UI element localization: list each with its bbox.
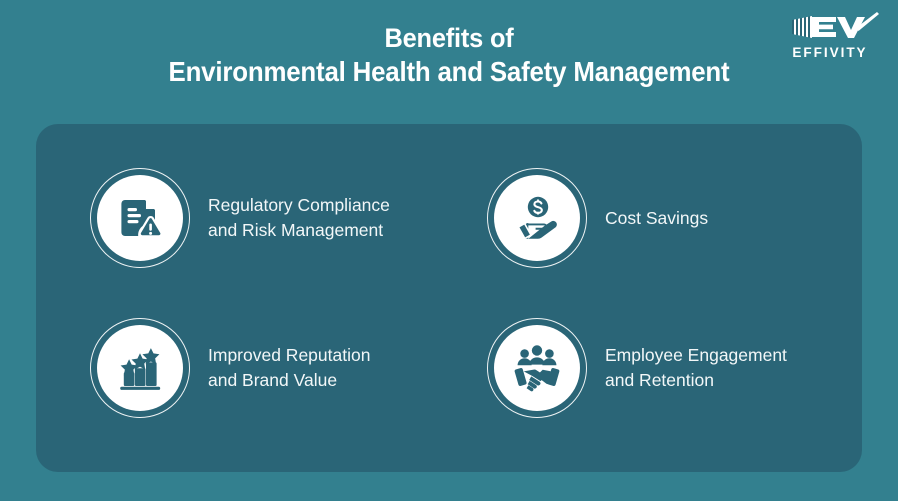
benefit-label-line-1: Employee Engagement: [605, 343, 787, 368]
benefit-icon-badge: [90, 318, 190, 418]
benefit-icon-badge: [487, 168, 587, 268]
title-line-1: Benefits of: [27, 22, 871, 55]
benefit-label-line-2: and Retention: [605, 368, 787, 393]
benefit-label-line-2: and Brand Value: [208, 368, 370, 393]
benefit-item-regulatory-compliance[interactable]: Regulatory Compliance and Risk Managemen…: [90, 153, 450, 283]
benefits-panel: Regulatory Compliance and Risk Managemen…: [36, 124, 862, 472]
benefits-grid: Regulatory Compliance and Risk Managemen…: [36, 124, 862, 472]
benefit-icon-badge: [90, 168, 190, 268]
effivity-logo: EFFIVITY: [778, 12, 882, 64]
ev-mark-icon: [792, 12, 879, 38]
page-title: Benefits of Environmental Health and Saf…: [0, 22, 898, 88]
infographic-canvas: Benefits of Environmental Health and Saf…: [0, 0, 898, 501]
benefit-label: Cost Savings: [605, 206, 708, 231]
benefit-label-line-2: and Risk Management: [208, 218, 390, 243]
benefit-icon-badge: [487, 318, 587, 418]
document-warning-icon: [97, 175, 183, 261]
benefit-label-line-1: Cost Savings: [605, 206, 708, 231]
benefit-label-line-1: Regulatory Compliance: [208, 193, 390, 218]
benefit-label: Improved Reputation and Brand Value: [208, 343, 370, 393]
benefit-label-line-1: Improved Reputation: [208, 343, 370, 368]
title-line-2: Environmental Health and Safety Manageme…: [27, 55, 871, 88]
bar-chart-stars-icon: [97, 325, 183, 411]
benefit-label: Employee Engagement and Retention: [605, 343, 787, 393]
benefit-item-cost-savings[interactable]: Cost Savings: [487, 153, 847, 283]
benefit-label: Regulatory Compliance and Risk Managemen…: [208, 193, 390, 243]
hand-holding-coin-icon: [494, 175, 580, 261]
people-handshake-icon: [494, 325, 580, 411]
benefit-item-employee-engagement[interactable]: Employee Engagement and Retention: [487, 303, 847, 433]
benefit-item-improved-reputation[interactable]: Improved Reputation and Brand Value: [90, 303, 450, 433]
effivity-wordmark: EFFIVITY: [780, 44, 881, 60]
